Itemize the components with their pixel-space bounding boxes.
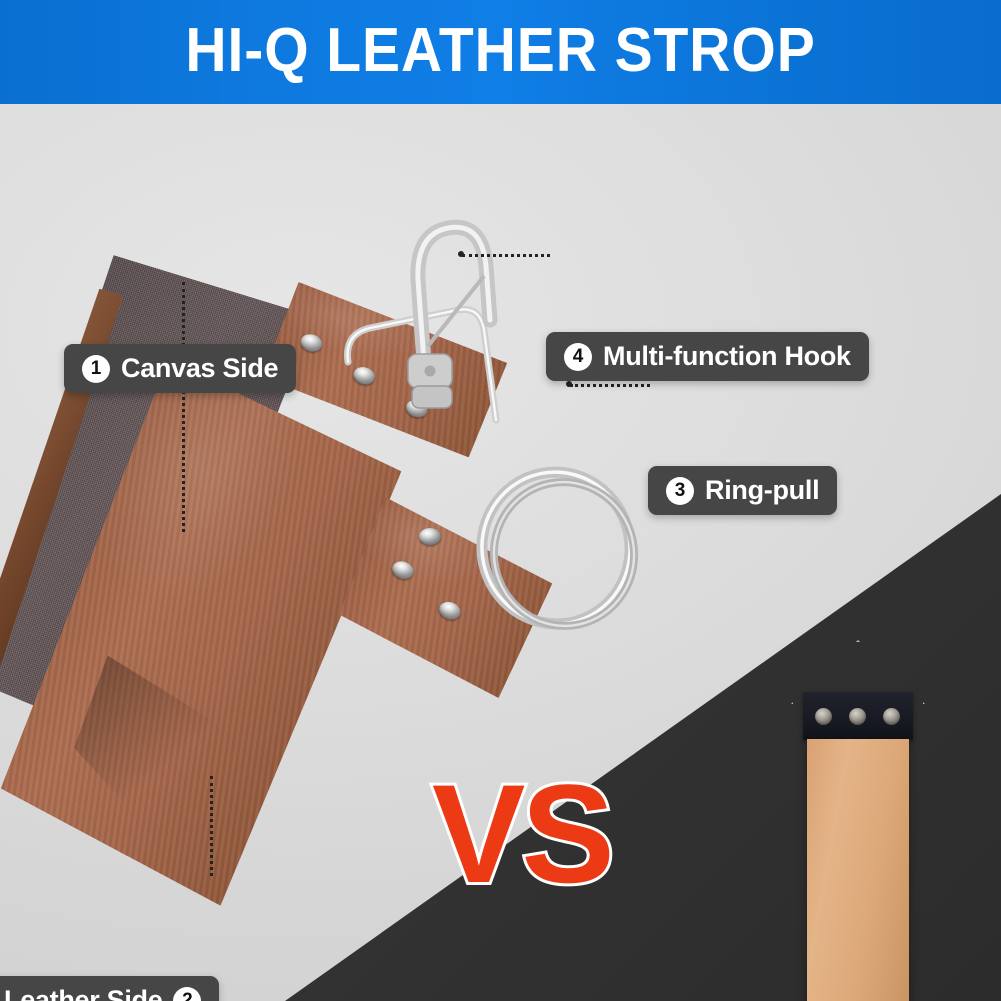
page-title-text: HI-Q LEATHER STROP bbox=[185, 15, 815, 86]
leader-dot-hook bbox=[458, 251, 464, 257]
rivet bbox=[390, 558, 416, 581]
header-banner: HI-Q LEATHER STROP bbox=[0, 0, 1001, 104]
leader-line-hook bbox=[462, 254, 550, 257]
leader-dot-ring-pull bbox=[566, 381, 572, 387]
rivet bbox=[419, 528, 441, 545]
callout-number: 3 bbox=[666, 477, 694, 505]
callout-label: Multi-function Hook bbox=[603, 341, 851, 372]
inferior-leather-strap bbox=[807, 739, 909, 1001]
inferior-top-band bbox=[803, 692, 913, 740]
rivet bbox=[815, 708, 832, 725]
leader-line-canvas-side bbox=[182, 282, 185, 532]
rivet bbox=[298, 332, 324, 355]
callout-ring-pull[interactable]: 3 Ring-pull bbox=[648, 466, 837, 515]
product-comparison-stage: 1 Canvas Side Leather Side 2 3 Ring-pull… bbox=[0, 104, 1001, 1001]
product-infographic: HI-Q LEATHER STROP Strop Construction,Le… bbox=[0, 0, 1001, 1001]
callout-leather-side[interactable]: Leather Side 2 bbox=[0, 976, 219, 1001]
callout-number: 4 bbox=[564, 343, 592, 371]
vs-text: VS bbox=[432, 755, 611, 912]
ring-pull-icon bbox=[468, 460, 648, 646]
callout-label: Ring-pull bbox=[705, 475, 819, 506]
callout-number: 2 bbox=[173, 987, 201, 1001]
inferior-strop-photo bbox=[781, 640, 931, 1001]
page-title: HI-Q LEATHER STROP bbox=[0, 15, 1001, 86]
callout-canvas-side[interactable]: 1 Canvas Side bbox=[64, 344, 296, 393]
multi-function-hook-icon bbox=[372, 214, 502, 434]
callout-multi-function-hook[interactable]: 4 Multi-function Hook bbox=[546, 332, 869, 381]
leader-line-ring-pull bbox=[570, 384, 650, 387]
rivet bbox=[849, 708, 866, 725]
vs-badge: VS bbox=[432, 764, 611, 904]
callout-number: 1 bbox=[82, 355, 110, 383]
callout-label: Leather Side bbox=[4, 985, 162, 1001]
rivet bbox=[437, 599, 463, 622]
rivet bbox=[883, 708, 900, 725]
callout-label: Canvas Side bbox=[121, 353, 278, 384]
leader-line-leather-side bbox=[210, 776, 213, 876]
